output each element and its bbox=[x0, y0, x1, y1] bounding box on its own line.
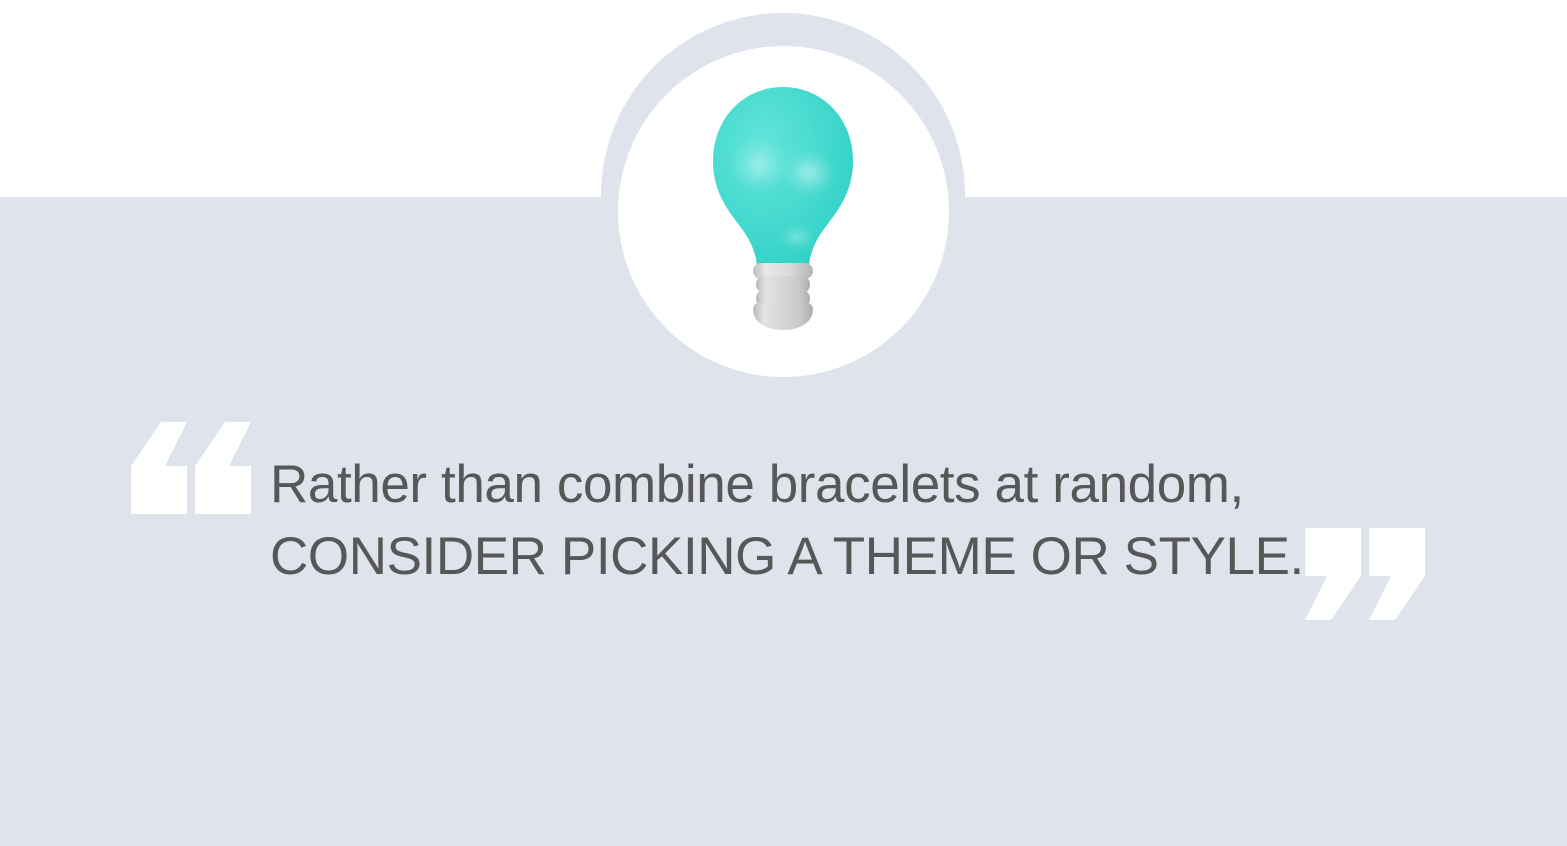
tip-callout-card: Rather than combine bracelets at random,… bbox=[0, 0, 1567, 846]
lightbulb-icon bbox=[711, 85, 855, 333]
quote-close-mark bbox=[1305, 528, 1425, 620]
quote-line-1: Rather than combine bracelets at random, bbox=[270, 449, 1330, 521]
quote-line-2: CONSIDER PICKING A THEME OR STYLE. bbox=[270, 521, 1330, 593]
quote-open-mark bbox=[131, 422, 251, 514]
quote-text: Rather than combine bracelets at random,… bbox=[270, 449, 1330, 593]
